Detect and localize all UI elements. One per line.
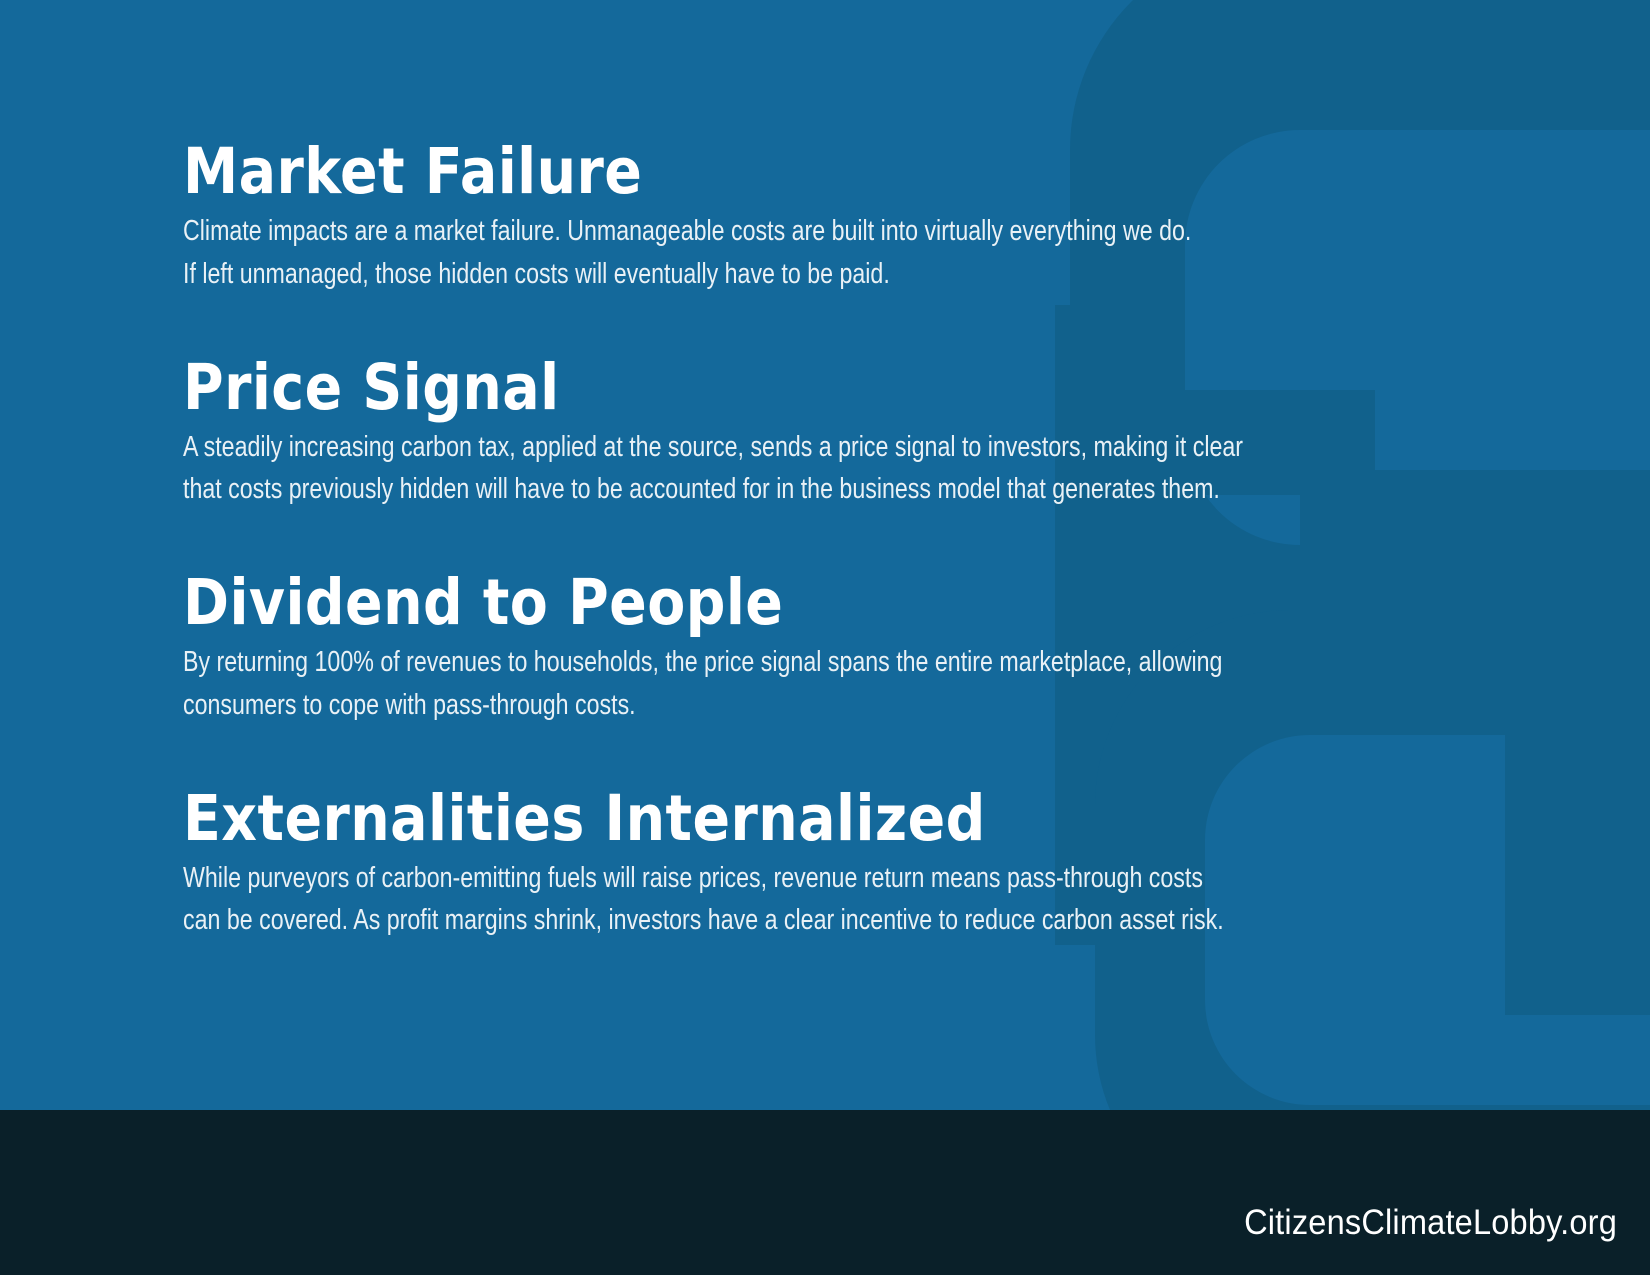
section-market-failure: Market Failure Climate impacts are a mar…	[183, 140, 1383, 296]
sections-container: Market Failure Climate impacts are a mar…	[183, 140, 1383, 942]
section-price-signal: Price Signal A steadily increasing carbo…	[183, 356, 1383, 512]
section-dividend-to-people: Dividend to People By returning 100% of …	[183, 571, 1383, 727]
section-body: While purveyors of carbon-emitting fuels…	[183, 857, 1367, 942]
footer-bar: CitizensClimateLobby.org	[0, 1110, 1650, 1275]
section-body: By returning 100% of revenues to househo…	[183, 641, 1367, 726]
infographic-poster: Market Failure Climate impacts are a mar…	[0, 0, 1650, 1275]
section-externalities-internalized: Externalities Internalized While purveyo…	[183, 787, 1383, 943]
section-body: Climate impacts are a market failure. Un…	[183, 210, 1367, 295]
section-heading: Dividend to People	[183, 571, 1239, 635]
section-heading: Market Failure	[183, 140, 1239, 204]
section-heading: Externalities Internalized	[183, 787, 1239, 851]
section-heading: Price Signal	[183, 356, 1239, 420]
footer-website-link[interactable]: CitizensClimateLobby.org	[1244, 1203, 1617, 1243]
section-body: A steadily increasing carbon tax, applie…	[183, 426, 1367, 511]
